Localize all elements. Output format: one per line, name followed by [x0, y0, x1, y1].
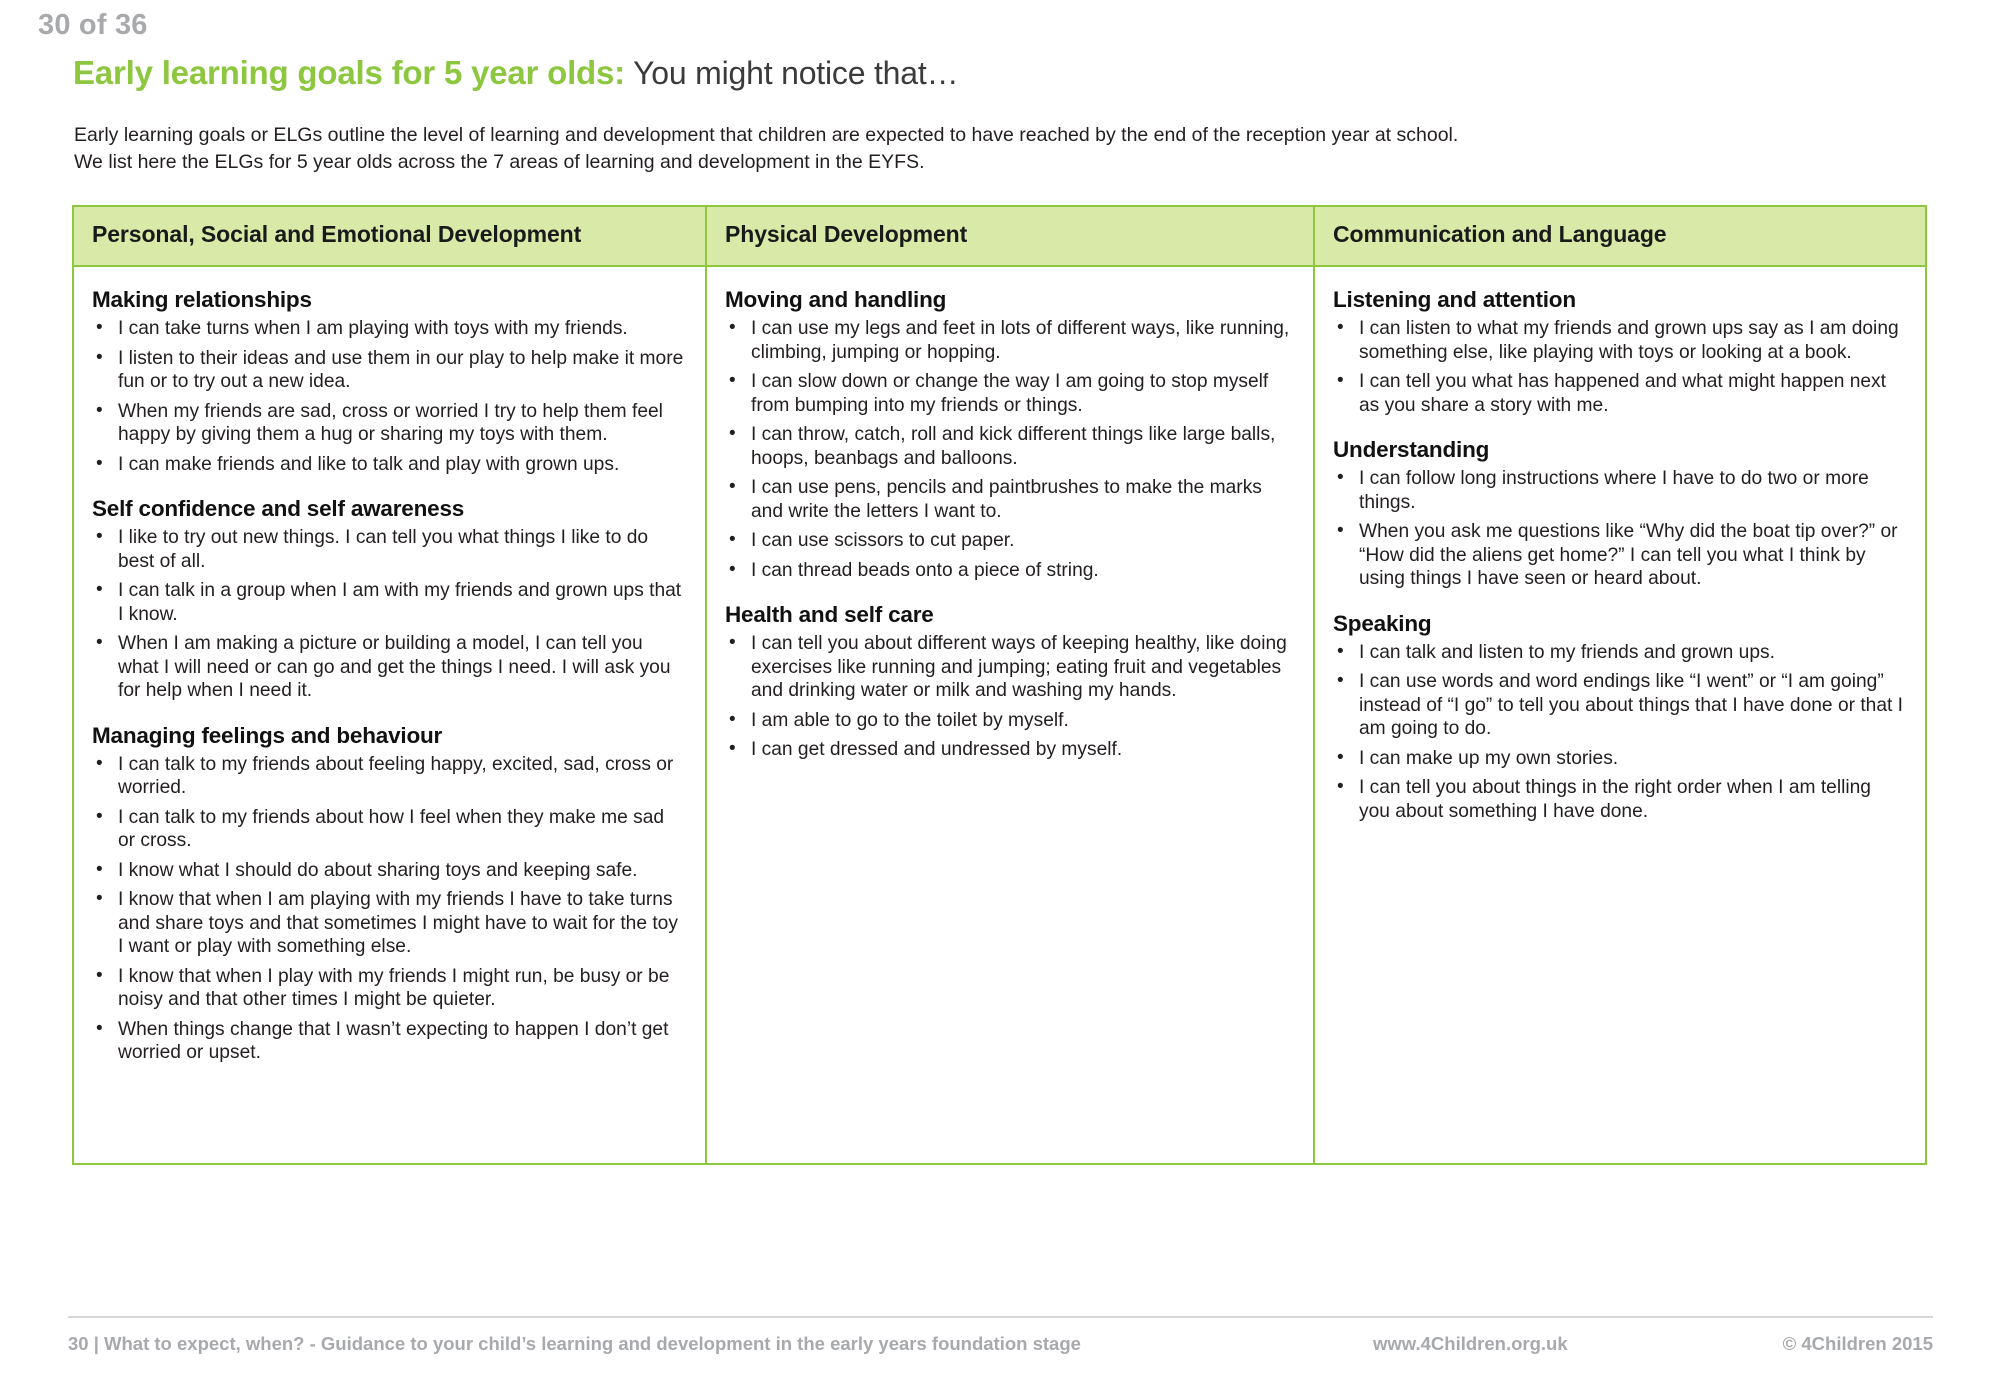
intro-line-2: We list here the ELGs for 5 year olds ac…: [74, 149, 1634, 176]
goal-list-item: I can talk in a group when I am with my …: [92, 579, 685, 626]
goal-list-item: I can make friends and like to talk and …: [92, 453, 685, 477]
section-title: Listening and attention: [1333, 287, 1905, 313]
section: Self confidence and self awarenessI like…: [92, 496, 685, 703]
document-page: 30 of 36 Early learning goals for 5 year…: [0, 0, 1997, 1392]
goal-list: I can use my legs and feet in lots of di…: [725, 317, 1293, 582]
goal-list: I can listen to what my friends and grow…: [1333, 317, 1905, 417]
goal-list-item: I can use scissors to cut paper.: [725, 529, 1293, 553]
section-title: Speaking: [1333, 611, 1905, 637]
goal-list-item: I can tell you about things in the right…: [1333, 776, 1905, 823]
goal-list: I can follow long instructions where I h…: [1333, 467, 1905, 591]
goal-list-item: I can listen to what my friends and grow…: [1333, 317, 1905, 364]
goal-list-item: I know that when I play with my friends …: [92, 965, 685, 1012]
page-title: Early learning goals for 5 year olds: Yo…: [73, 54, 958, 92]
footer-divider: [68, 1316, 1933, 1318]
table-header-row: Personal, Social and Emotional Developme…: [74, 207, 1925, 267]
goal-list-item: I can use my legs and feet in lots of di…: [725, 317, 1293, 364]
section-title: Making relationships: [92, 287, 685, 313]
footer-copyright: © 4Children 2015: [1783, 1333, 1933, 1355]
page-footer: 30 | What to expect, when? - Guidance to…: [68, 1333, 1933, 1355]
section-title: Moving and handling: [725, 287, 1293, 313]
footer-website-link[interactable]: www.4Children.org.uk: [1373, 1333, 1568, 1355]
goal-list-item: I can talk to my friends about feeling h…: [92, 753, 685, 800]
section: Moving and handlingI can use my legs and…: [725, 287, 1293, 582]
goal-list: I can talk and listen to my friends and …: [1333, 641, 1905, 824]
table-body-row: Making relationshipsI can take turns whe…: [74, 267, 1925, 1163]
section: Managing feelings and behaviourI can tal…: [92, 723, 685, 1065]
column-header-physical-development: Physical Development: [707, 207, 1315, 265]
table-cell-communication-language: Listening and attentionI can listen to w…: [1315, 267, 1925, 1163]
section-title: Managing feelings and behaviour: [92, 723, 685, 749]
goal-list-item: I can use pens, pencils and paintbrushes…: [725, 476, 1293, 523]
goal-list-item: When you ask me questions like “Why did …: [1333, 520, 1905, 591]
goal-list-item: I am able to go to the toilet by myself.: [725, 709, 1293, 733]
goal-list-item: When my friends are sad, cross or worrie…: [92, 400, 685, 447]
section-title: Self confidence and self awareness: [92, 496, 685, 522]
goal-list-item: I can get dressed and undressed by mysel…: [725, 738, 1293, 762]
column-header-personal-social-emotional: Personal, Social and Emotional Developme…: [74, 207, 707, 265]
goal-list: I can take turns when I am playing with …: [92, 317, 685, 476]
goal-list-item: I like to try out new things. I can tell…: [92, 526, 685, 573]
goal-list: I can talk to my friends about feeling h…: [92, 753, 685, 1065]
section: SpeakingI can talk and listen to my frie…: [1333, 611, 1905, 824]
goal-list-item: I can thread beads onto a piece of strin…: [725, 559, 1293, 583]
section: Listening and attentionI can listen to w…: [1333, 287, 1905, 417]
goal-list-item: When things change that I wasn’t expecti…: [92, 1018, 685, 1065]
goal-list-item: I can slow down or change the way I am g…: [725, 370, 1293, 417]
page-title-highlight: Early learning goals for 5 year olds:: [73, 54, 625, 91]
goal-list-item: I can talk and listen to my friends and …: [1333, 641, 1905, 665]
goal-list-item: I know what I should do about sharing to…: [92, 859, 685, 883]
goal-list: I can tell you about different ways of k…: [725, 632, 1293, 762]
goal-list-item: I can talk to my friends about how I fee…: [92, 806, 685, 853]
goal-list-item: I know that when I am playing with my fr…: [92, 888, 685, 959]
goal-list-item: I can use words and word endings like “I…: [1333, 670, 1905, 741]
intro-paragraph: Early learning goals or ELGs outline the…: [74, 122, 1634, 176]
elg-table: Personal, Social and Emotional Developme…: [72, 205, 1927, 1165]
goal-list: I like to try out new things. I can tell…: [92, 526, 685, 703]
goal-list-item: I can make up my own stories.: [1333, 747, 1905, 771]
table-cell-physical-development: Moving and handlingI can use my legs and…: [707, 267, 1315, 1163]
goal-list-item: I can tell you what has happened and wha…: [1333, 370, 1905, 417]
footer-document-title: 30 | What to expect, when? - Guidance to…: [68, 1333, 1081, 1355]
goal-list-item: When I am making a picture or building a…: [92, 632, 685, 703]
section-title: Understanding: [1333, 437, 1905, 463]
section: UnderstandingI can follow long instructi…: [1333, 437, 1905, 591]
table-cell-personal-social-emotional: Making relationshipsI can take turns whe…: [74, 267, 707, 1163]
page-indicator: 30 of 36: [38, 9, 148, 42]
goal-list-item: I can tell you about different ways of k…: [725, 632, 1293, 703]
goal-list-item: I listen to their ideas and use them in …: [92, 347, 685, 394]
goal-list-item: I can follow long instructions where I h…: [1333, 467, 1905, 514]
section: Making relationshipsI can take turns whe…: [92, 287, 685, 476]
goal-list-item: I can take turns when I am playing with …: [92, 317, 685, 341]
section-title: Health and self care: [725, 602, 1293, 628]
page-title-subtitle: You might notice that…: [625, 55, 958, 91]
intro-line-1: Early learning goals or ELGs outline the…: [74, 122, 1634, 149]
column-header-communication-language: Communication and Language: [1315, 207, 1925, 265]
section: Health and self careI can tell you about…: [725, 602, 1293, 762]
goal-list-item: I can throw, catch, roll and kick differ…: [725, 423, 1293, 470]
